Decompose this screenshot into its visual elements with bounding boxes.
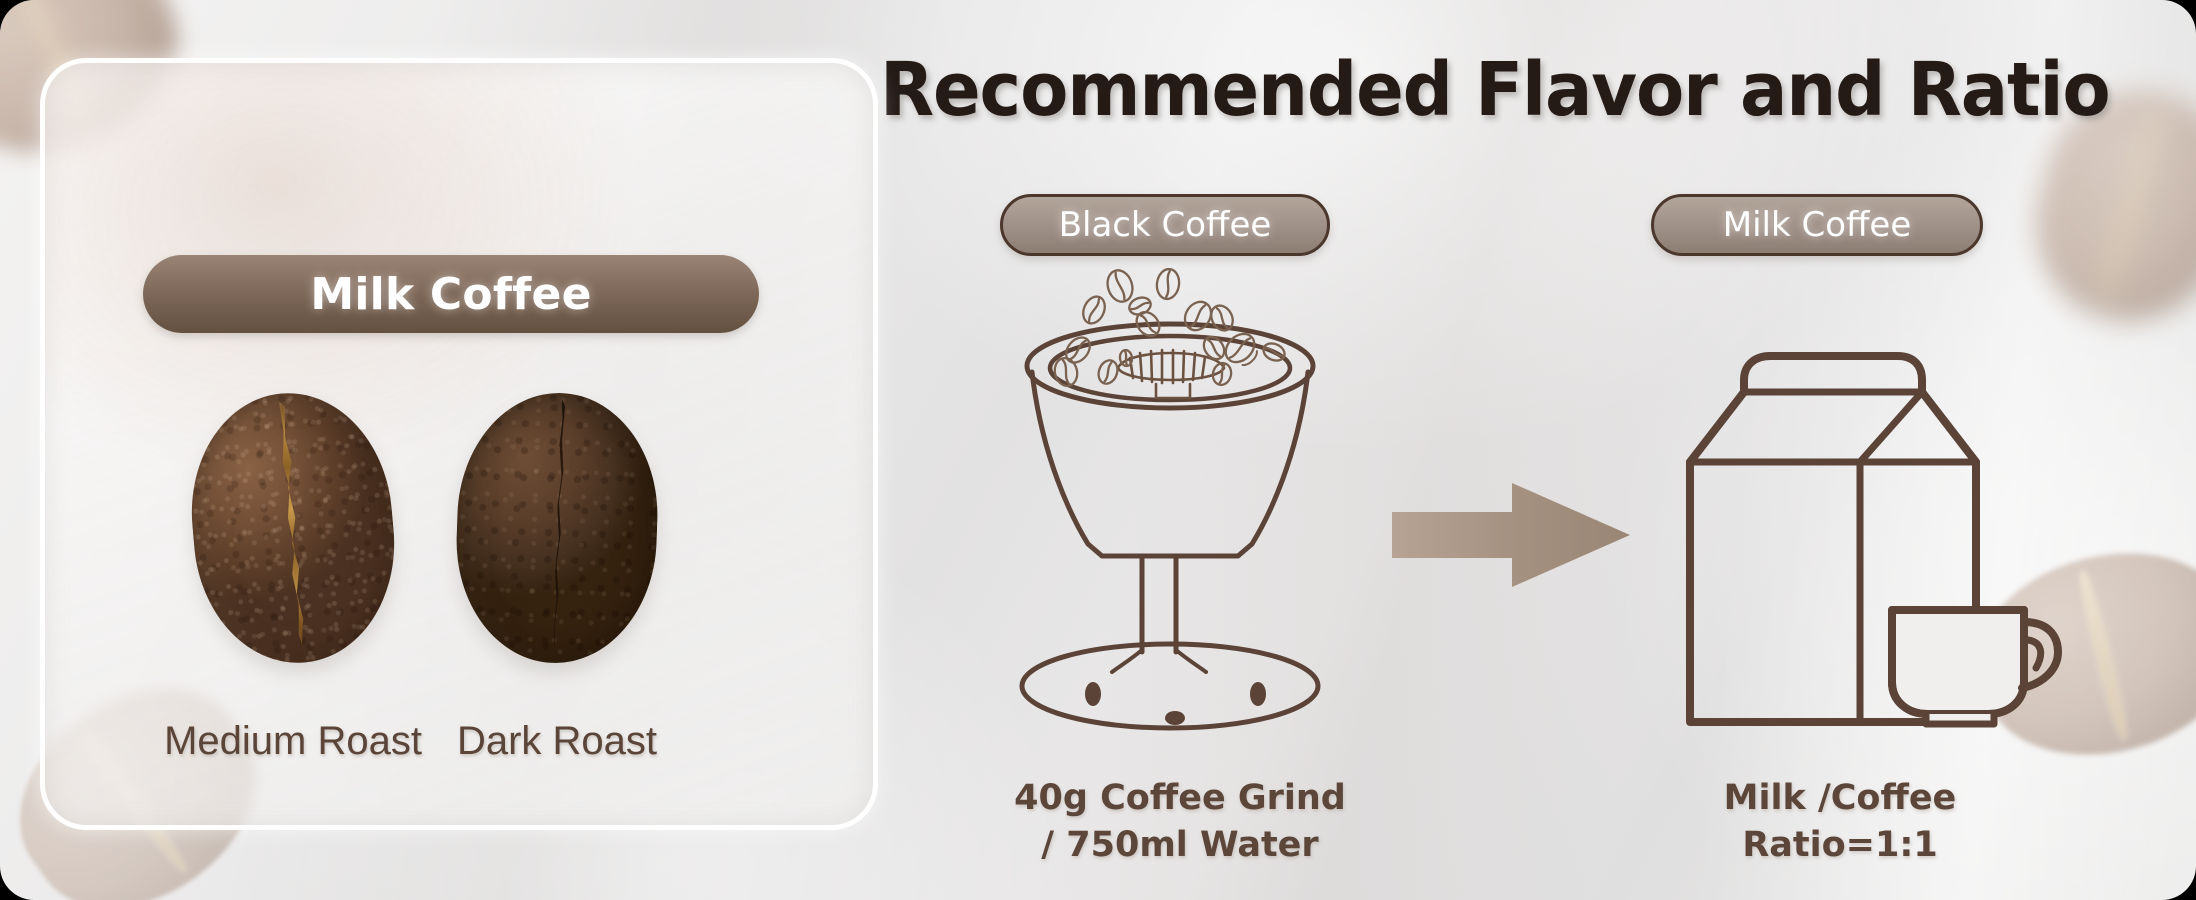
milk-carton-and-cup-icon bbox=[1664, 310, 2064, 735]
caption-black-coffee-ratio: 40g Coffee Grind / 750ml Water bbox=[970, 775, 1390, 869]
page-title: Recommended Flavor and Ratio bbox=[880, 44, 2068, 136]
pour-over-dripper-icon bbox=[990, 268, 1350, 738]
card-pill-milk-coffee[interactable]: Milk Coffee bbox=[143, 255, 759, 333]
milk-coffee-bean-card: Milk Coffee Medium Roast Dark Roast bbox=[40, 58, 878, 830]
pill-milk-coffee[interactable]: Milk Coffee bbox=[1651, 194, 1983, 256]
bean-crack bbox=[2099, 106, 2164, 305]
bean-body bbox=[452, 390, 661, 667]
pill-black-coffee[interactable]: Black Coffee bbox=[1000, 194, 1330, 256]
dark-roast-bean-image bbox=[452, 390, 661, 667]
recommended-flavor-banner: Recommended Flavor and Ratio Milk Coffee… bbox=[0, 0, 2196, 900]
bean-crack bbox=[2076, 570, 2130, 740]
medium-roast-bean-image bbox=[182, 385, 405, 671]
dark-roast-label: Dark Roast bbox=[397, 719, 717, 764]
caption-milk-coffee-ratio: Milk /Coffee Ratio=1:1 bbox=[1640, 775, 2040, 869]
right-arrow-icon bbox=[1392, 480, 1630, 590]
